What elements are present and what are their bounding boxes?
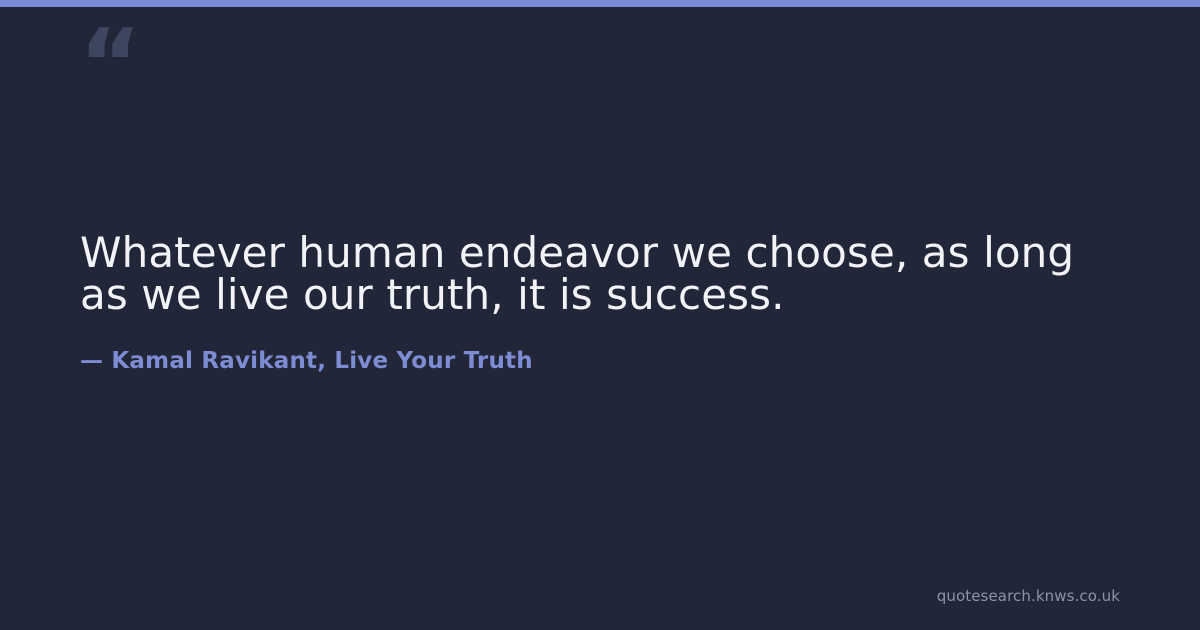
quote-text: Whatever human endeavor we choose, as lo… [80,232,1090,316]
quote-card: “ Whatever human endeavor we choose, as … [0,0,1200,630]
opening-quote-icon: “ [79,18,139,113]
site-watermark: quotesearch.knws.co.uk [937,587,1120,605]
quote-attribution: — Kamal Ravikant, Live Your Truth [80,348,1120,374]
top-accent-bar [0,0,1200,7]
quote-content: Whatever human endeavor we choose, as lo… [80,232,1120,374]
